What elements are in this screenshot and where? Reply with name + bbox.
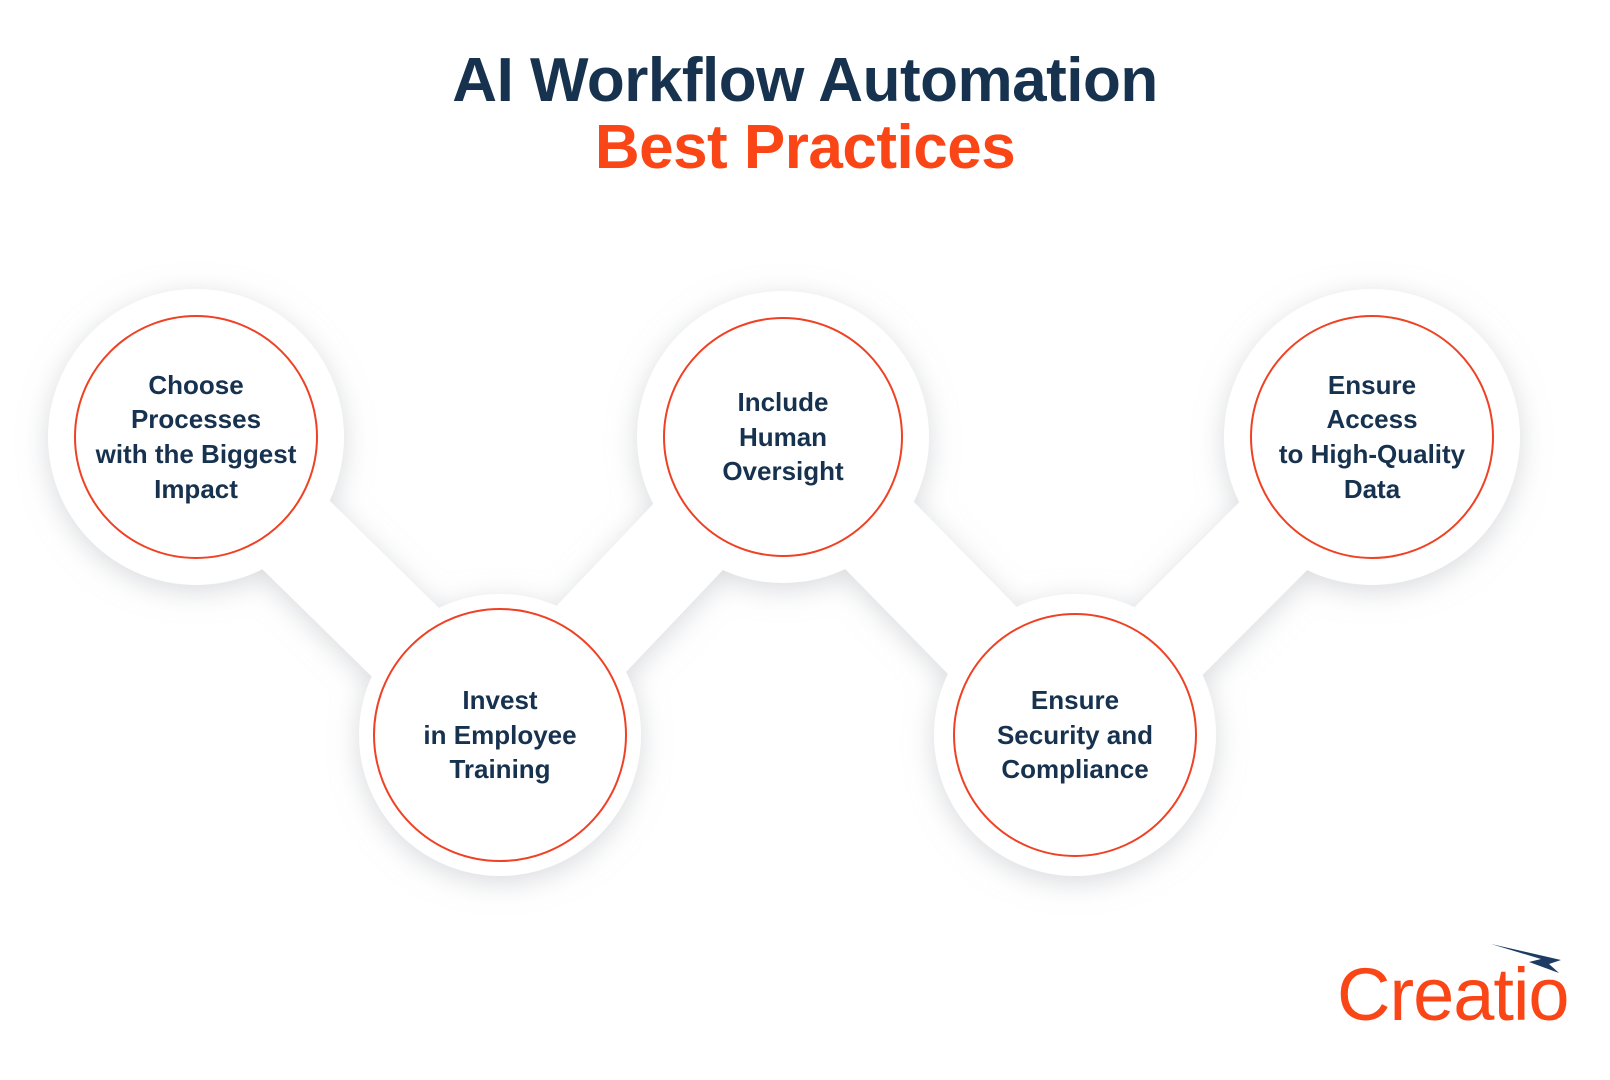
node-label-4: Ensure Security and Compliance [997,683,1153,787]
infographic-canvas: AI Workflow Automation Best Practices [0,0,1610,1080]
node-label-2: Invest in Employee Training [423,683,576,787]
node-ensure-security-compliance[interactable]: Ensure Security and Compliance [934,594,1216,876]
node-label-1: Choose Processes with the Biggest Impact [96,368,297,506]
creatio-wordmark: Creatio [1337,958,1569,1032]
node-ensure-access-high-quality-data[interactable]: Ensure Access to High-Quality Data [1224,289,1520,585]
node-invest-employee-training[interactable]: Invest in Employee Training [359,594,641,876]
node-choose-processes[interactable]: Choose Processes with the Biggest Impact [48,289,344,585]
diagram-stage: Choose Processes with the Biggest Impact… [0,0,1610,1080]
node-label-5: Ensure Access to High-Quality Data [1279,368,1465,506]
node-include-human-oversight[interactable]: Include Human Oversight [637,291,929,583]
node-label-3: Include Human Oversight [722,385,843,489]
creatio-logo[interactable]: Creatio [1337,942,1577,1032]
